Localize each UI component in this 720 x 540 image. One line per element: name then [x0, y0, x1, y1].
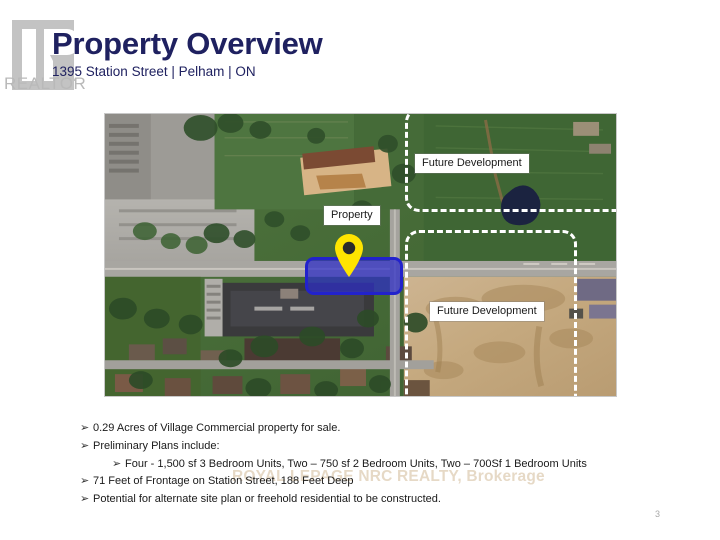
bullet-arrow-icon: ➢ — [80, 473, 93, 491]
bullet-text: Preliminary Plans include: — [93, 438, 640, 456]
header: Property Overview 1395 Station Street | … — [52, 28, 323, 79]
bullet-list: ➢ 0.29 Acres of Village Commercial prope… — [80, 420, 640, 509]
bullet-item: ➢ 71 Feet of Frontage on Station Street,… — [80, 473, 640, 491]
bullet-arrow-icon: ➢ — [80, 491, 93, 509]
bullet-text: Four - 1,500 sf 3 Bedroom Units, Two – 7… — [125, 456, 640, 474]
bullet-arrow-icon: ➢ — [112, 456, 125, 474]
aerial-map[interactable]: Future Development Future Development Pr… — [104, 113, 617, 397]
bullet-item: ➢ Four - 1,500 sf 3 Bedroom Units, Two –… — [80, 456, 640, 474]
bullet-text: 71 Feet of Frontage on Station Street, 1… — [93, 473, 640, 491]
bullet-item: ➢ Preliminary Plans include: — [80, 438, 640, 456]
map-label-property: Property — [324, 206, 380, 225]
bullet-arrow-icon: ➢ — [80, 420, 93, 438]
map-pin-icon[interactable] — [333, 232, 365, 278]
slide-canvas: REALTOR Property Overview 1395 Station S… — [0, 0, 720, 540]
page-subtitle: 1395 Station Street | Pelham | ON — [52, 64, 323, 79]
bullet-item: ➢ Potential for alternate site plan or f… — [80, 491, 640, 509]
map-label-future-development-north: Future Development — [415, 154, 529, 173]
bullet-item: ➢ 0.29 Acres of Village Commercial prope… — [80, 420, 640, 438]
bullet-text: Potential for alternate site plan or fre… — [93, 491, 640, 509]
bullet-text: 0.29 Acres of Village Commercial propert… — [93, 420, 640, 438]
map-label-future-development-south: Future Development — [430, 302, 544, 321]
bullet-arrow-icon: ➢ — [80, 438, 93, 456]
page-title: Property Overview — [52, 28, 323, 61]
page-number: 3 — [655, 509, 660, 519]
